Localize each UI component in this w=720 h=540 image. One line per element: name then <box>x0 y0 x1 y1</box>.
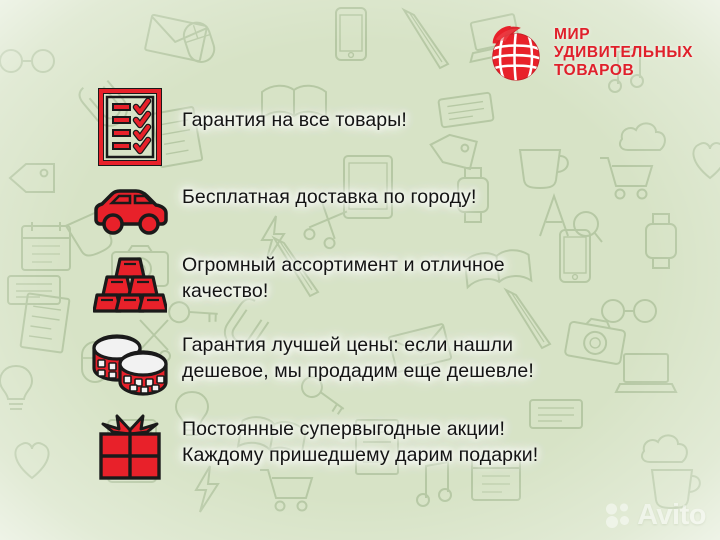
benefit-line: Постоянные супервыгодные акции! <box>182 417 638 443</box>
benefit-line: качество! <box>182 279 638 305</box>
brand-name: МИР УДИВИТЕЛЬНЫХ ТОВАРОВ <box>554 26 693 80</box>
benefit-text: Гарантия на все товары! <box>182 86 638 134</box>
benefit-text: Постоянные супервыгодные акции! Каждому … <box>182 408 638 469</box>
benefit-item: Гарантия на все товары! <box>78 86 638 172</box>
brand-line-3: ТОВАРОВ <box>554 62 693 80</box>
benefit-item: Гарантия лучшей цены: если нашли дешевое… <box>78 328 638 408</box>
benefit-text: Гарантия лучшей цены: если нашли дешевое… <box>182 328 638 385</box>
checklist-icon <box>98 88 162 166</box>
brand-line-1: МИР <box>554 26 693 44</box>
benefit-item: Постоянные супервыгодные акции! Каждому … <box>78 408 638 494</box>
avito-watermark: Avito <box>605 499 706 532</box>
gift-box-icon <box>95 412 165 482</box>
avito-dots-icon <box>605 503 631 529</box>
coin-stacks-icon <box>90 334 170 396</box>
benefit-item: Огромный ассортимент и отличное качество… <box>78 248 638 328</box>
promo-poster: МИР УДИВИТЕЛЬНЫХ ТОВАРОВ <box>0 0 720 540</box>
benefit-line: Огромный ассортимент и отличное <box>182 253 638 279</box>
benefits-list: Гарантия на все товары! Бесплатная доста… <box>78 86 638 494</box>
benefit-line: Бесплатная доставка по городу! <box>182 185 638 211</box>
benefit-icon-slot <box>78 248 182 315</box>
gold-bars-icon <box>93 253 167 315</box>
brand-line-2: УДИВИТЕЛЬНЫХ <box>554 44 693 62</box>
benefit-line: Гарантия лучшей цены: если нашли <box>182 333 638 359</box>
benefit-text: Бесплатная доставка по городу! <box>182 172 638 211</box>
car-icon <box>90 186 170 236</box>
benefit-icon-slot <box>78 408 182 482</box>
benefit-icon-slot <box>78 328 182 396</box>
avito-wordmark: Avito <box>637 499 706 532</box>
brand-logo: МИР УДИВИТЕЛЬНЫХ ТОВАРОВ <box>484 22 693 84</box>
benefit-line: дешевое, мы продадим еще дешевле! <box>182 359 638 385</box>
red-globe-icon <box>484 22 546 84</box>
benefit-text: Огромный ассортимент и отличное качество… <box>182 248 638 305</box>
benefit-line: Гарантия на все товары! <box>182 108 638 134</box>
benefit-item: Бесплатная доставка по городу! <box>78 172 638 248</box>
benefit-icon-slot <box>78 86 182 166</box>
benefit-line: Каждому пришедшему дарим подарки! <box>182 443 638 469</box>
benefit-icon-slot <box>78 172 182 236</box>
